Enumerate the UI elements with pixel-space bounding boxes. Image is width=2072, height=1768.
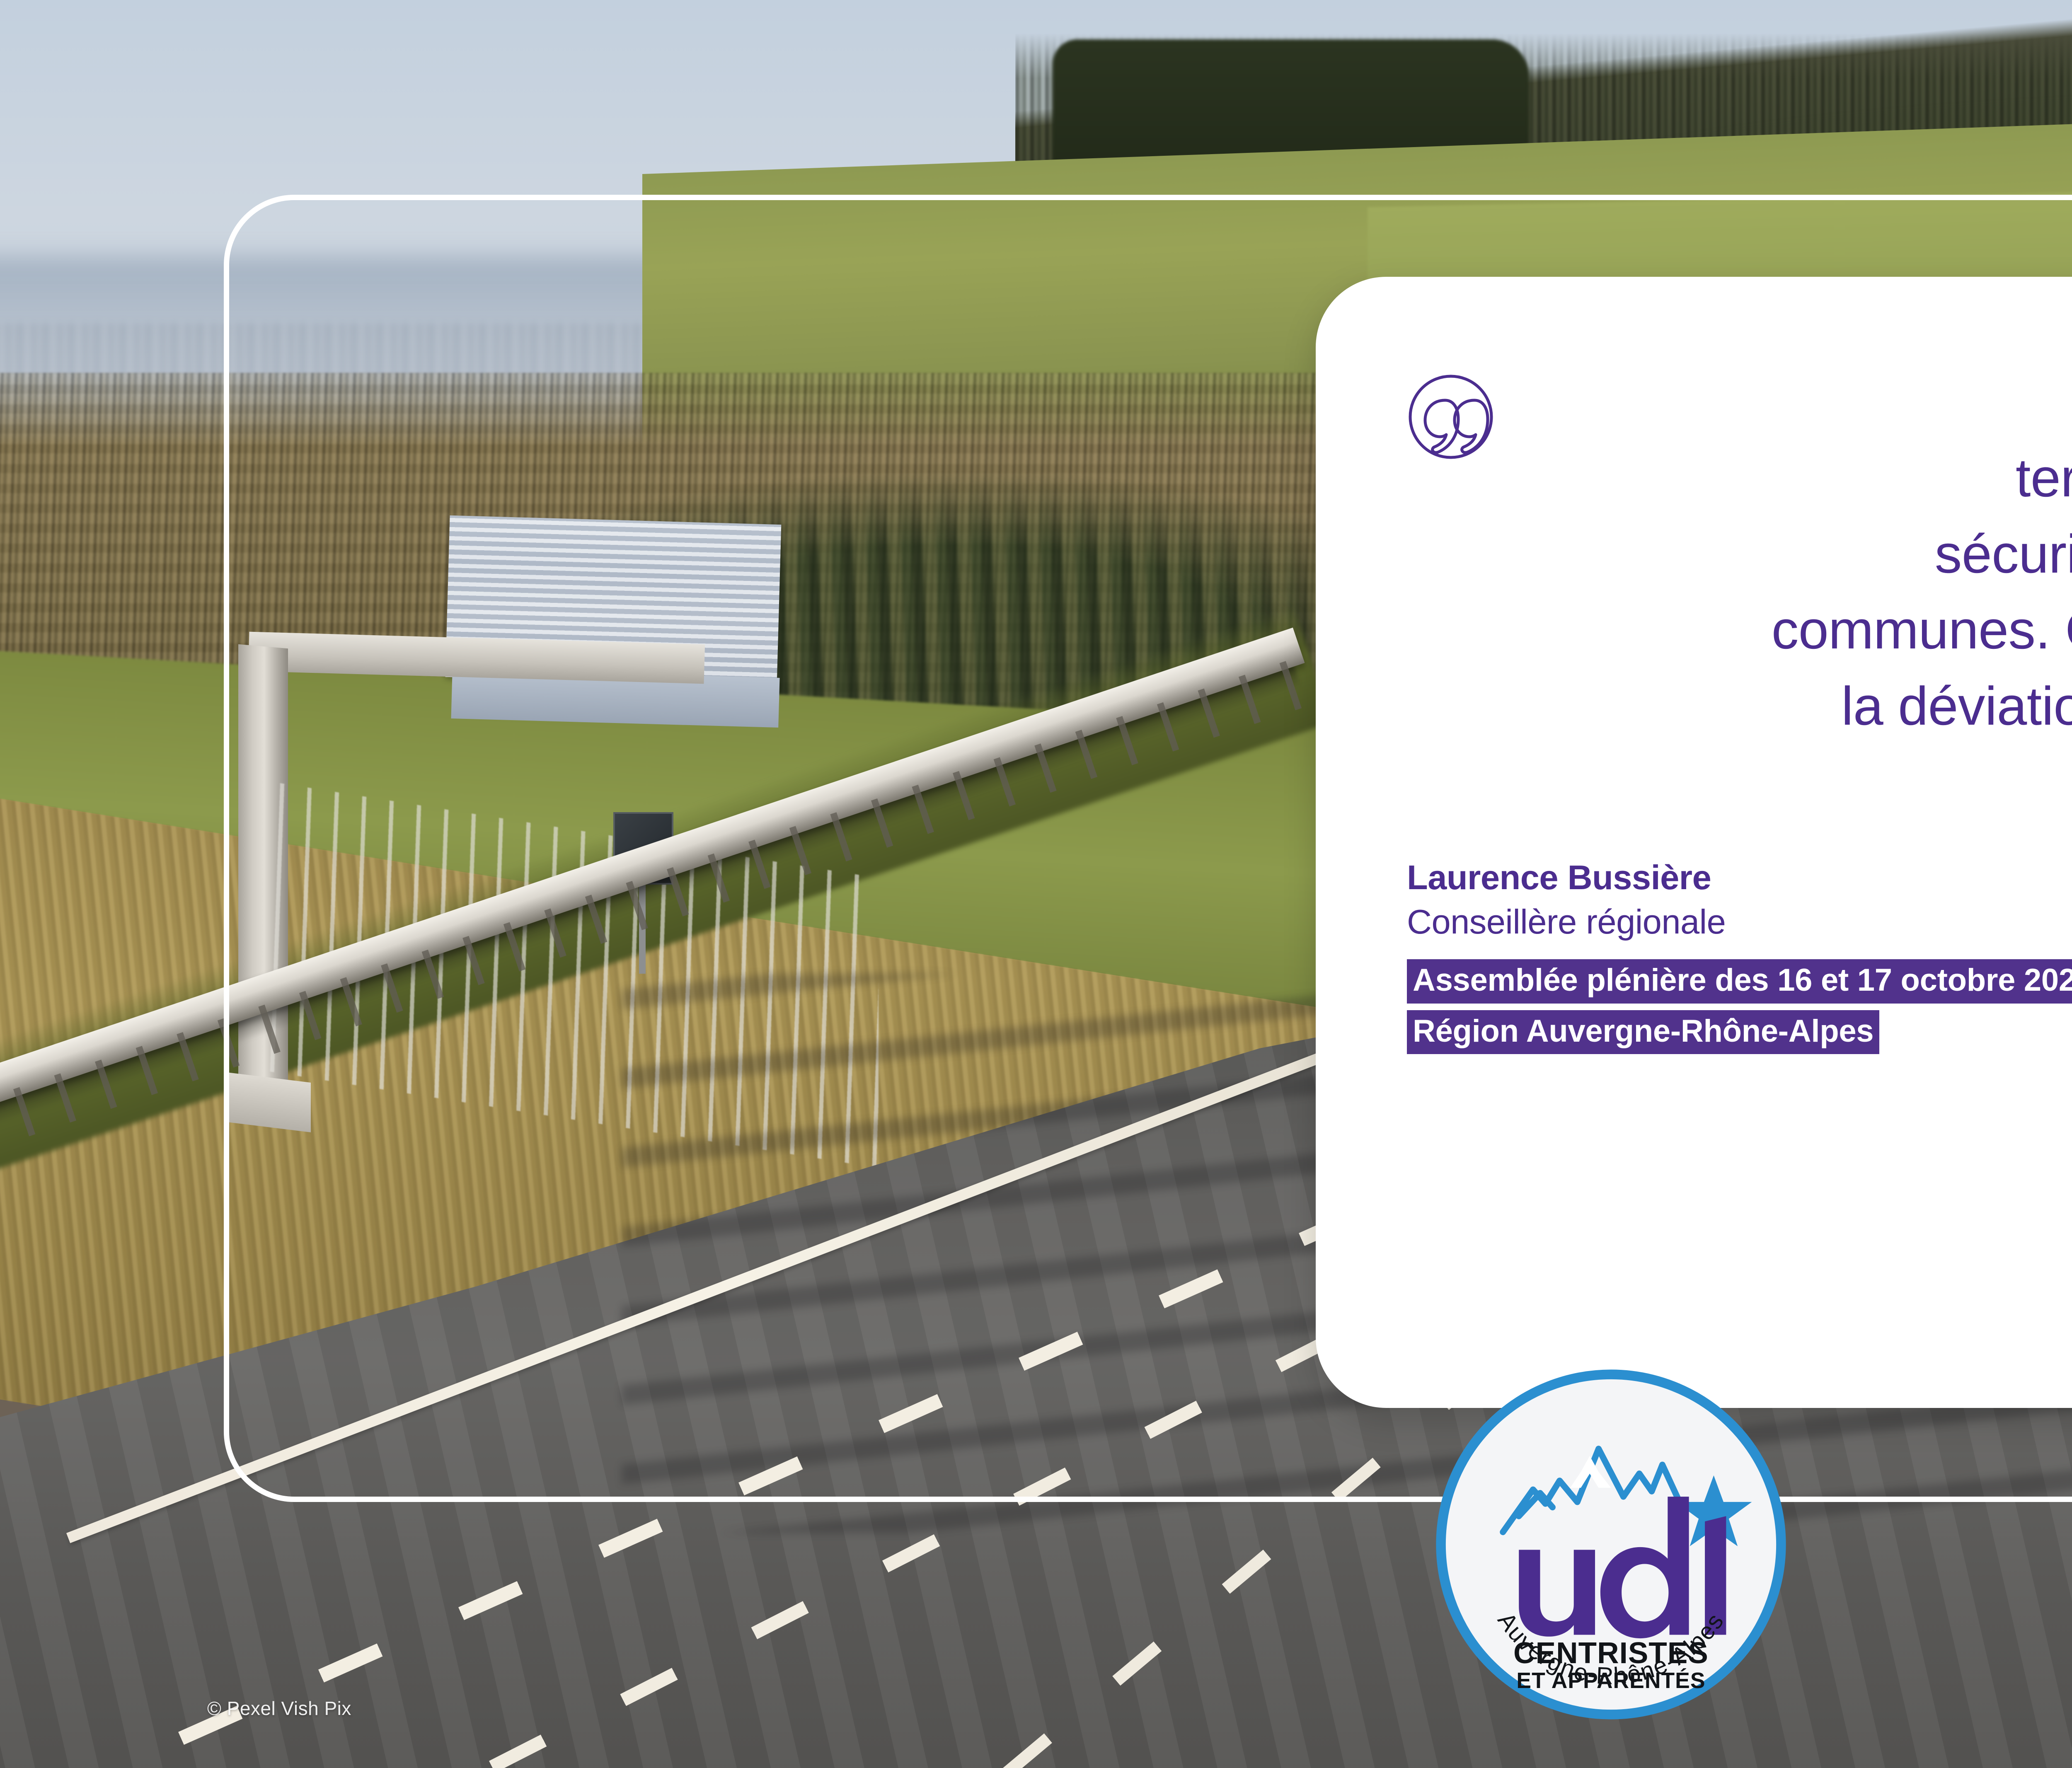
gantry-post-base: [224, 1072, 311, 1132]
photo-credit: © Pexel Vish Pix: [207, 1697, 351, 1720]
quote-line-2: territoire équilibré, c’est agir pour la: [1407, 440, 2072, 515]
author-role: Conseillère régionale: [1407, 902, 2072, 942]
quote-line-1: Agir pour un aménagement du: [1407, 364, 2072, 440]
attribution-block: Laurence Bussière Conseillère régionale …: [1407, 858, 2072, 1054]
quote-line-3: sécurité, la mobilité et la vitalité de …: [1407, 516, 2072, 592]
event-line: Assemblée plénière des 16 et 17 octobre …: [1407, 959, 2072, 1004]
quote-line-5: la déviation de la RN88 : un projet d’av…: [1407, 668, 2072, 744]
quote-line-6: pour un territoire qui avance.: [1407, 744, 2072, 820]
event-details: Assemblée plénière des 16 et 17 octobre …: [1407, 959, 2072, 1055]
quote-line-4: communes. C’est précisément ce que perme…: [1407, 592, 2072, 668]
quote-card: Agir pour un aménagement du territoire é…: [1316, 277, 2072, 1408]
visual-quote-card: Agir pour un aménagement du territoire é…: [0, 0, 2072, 1768]
udi-logo: CENTRISTES ET APPARENTÉS Auvergne-Rhône-…: [1434, 1367, 1788, 1722]
quote-block: Agir pour un aménagement du territoire é…: [1407, 364, 2072, 820]
quote-text: Agir pour un aménagement du territoire é…: [1407, 364, 2072, 820]
quote-mark-icon: [1407, 373, 1495, 461]
author-name: Laurence Bussière: [1407, 858, 2072, 897]
institution-line: Région Auvergne-Rhône-Alpes: [1407, 1010, 1879, 1055]
